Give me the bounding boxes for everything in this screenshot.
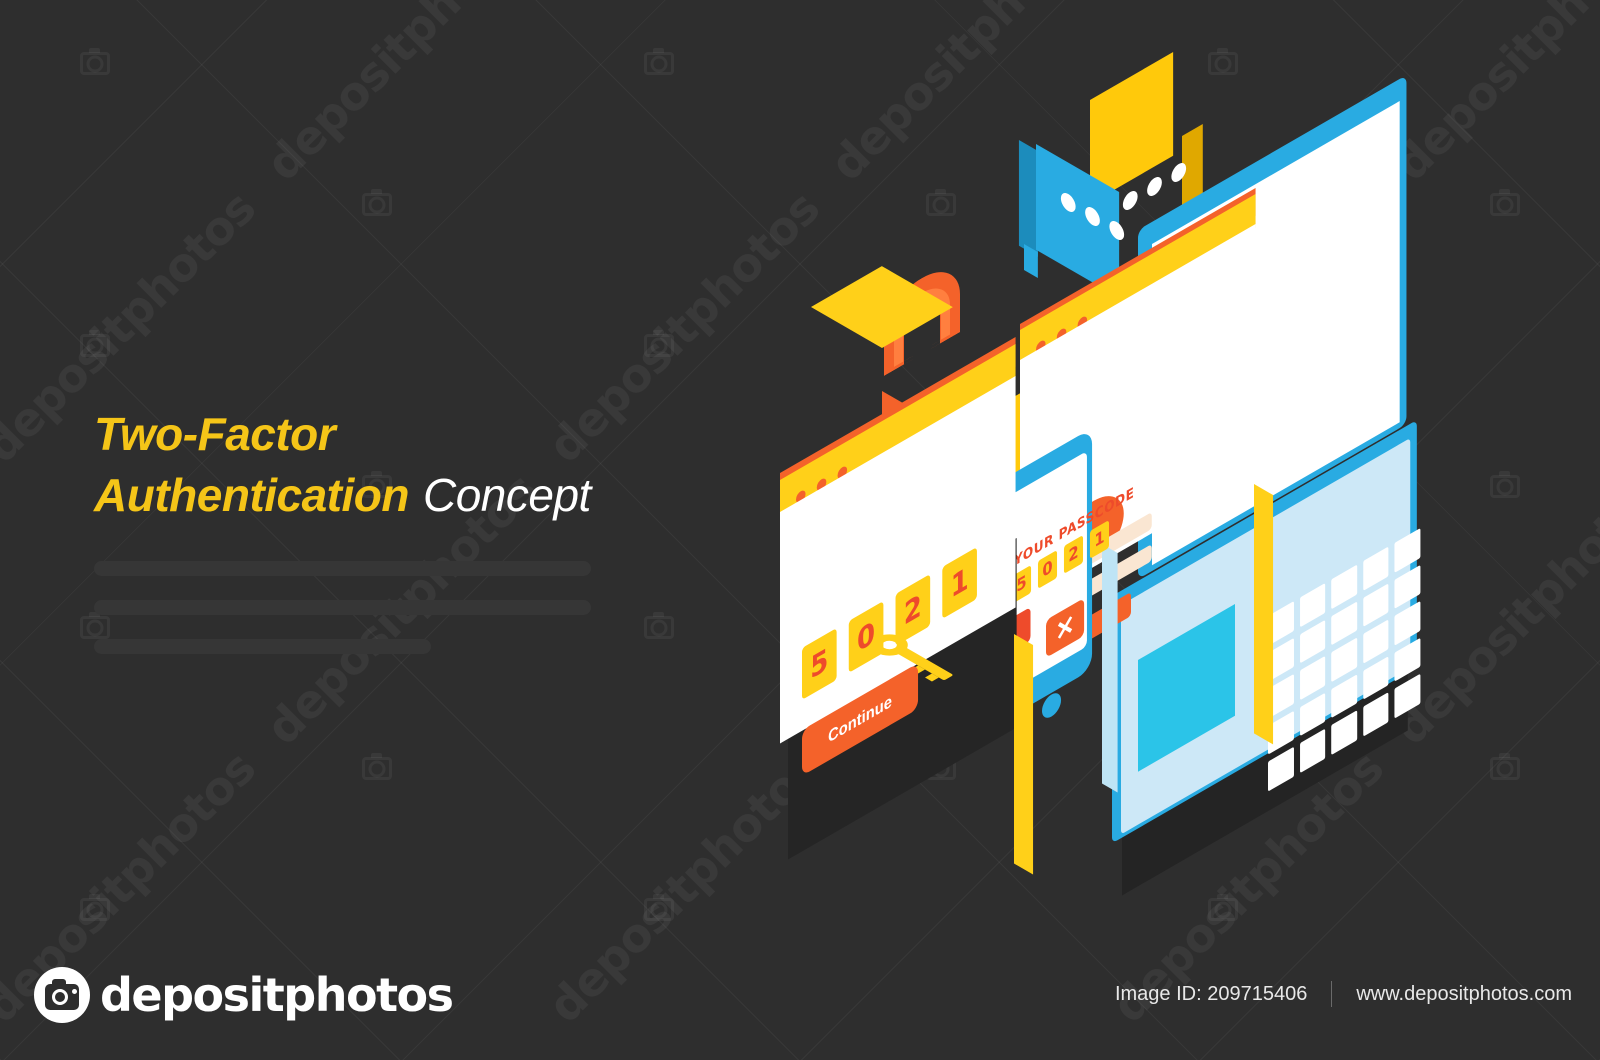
watermark-camera-icon (80, 52, 110, 75)
passcode-window-side (1014, 634, 1033, 874)
description-line (94, 600, 591, 615)
title-plain: Concept (423, 469, 591, 521)
bubble-dot (1123, 188, 1138, 213)
page-title-line2: AuthenticationConcept (94, 465, 591, 526)
footer-meta: Image ID: 209715406 www.depositphotos.co… (1115, 981, 1572, 1007)
watermark-camera-icon (1208, 898, 1238, 921)
footer: depositphotos Image ID: 209715406 www.de… (0, 945, 1600, 1060)
watermark-camera-icon (644, 616, 674, 639)
page-title-line1: Two-Factor (94, 404, 591, 465)
description-placeholder (94, 561, 591, 654)
watermark-camera-icon (80, 334, 110, 357)
website-link[interactable]: www.depositphotos.com (1356, 983, 1572, 1006)
footer-divider (1331, 981, 1332, 1007)
title-accent-first: Two-Factor (94, 408, 335, 460)
profile-window-side (1254, 484, 1273, 744)
watermark-camera-icon (644, 898, 674, 921)
camera-lens (52, 989, 68, 1005)
watermark-camera-icon (80, 898, 110, 921)
camera-icon (34, 967, 90, 1023)
camera-flash-dot (72, 989, 77, 994)
description-line (94, 561, 591, 576)
bubble-dot (1147, 174, 1162, 199)
logo-text: depositphotos (100, 968, 453, 1022)
title-accent-second: Authentication (94, 469, 409, 521)
description-line (94, 639, 431, 654)
watermark-text: depositphotos (255, 0, 547, 191)
two-factor-illustration: YOUR PASSCODE 5 0 2 1 ✕ (740, 60, 1540, 900)
illustration-canvas: depositphotos depositphotos depositphoto… (0, 0, 1600, 1060)
depositphotos-logo[interactable]: depositphotos (34, 967, 453, 1023)
watermark-camera-icon (644, 334, 674, 357)
watermark-camera-icon (644, 52, 674, 75)
phone-side (1102, 544, 1118, 792)
watermark-camera-icon (362, 757, 392, 780)
watermark-camera-icon (362, 193, 392, 216)
image-id-label: Image ID: 209715406 (1115, 983, 1307, 1006)
hero-text-block: Two-Factor AuthenticationConcept (94, 404, 591, 678)
x-icon: ✕ (1056, 610, 1075, 647)
